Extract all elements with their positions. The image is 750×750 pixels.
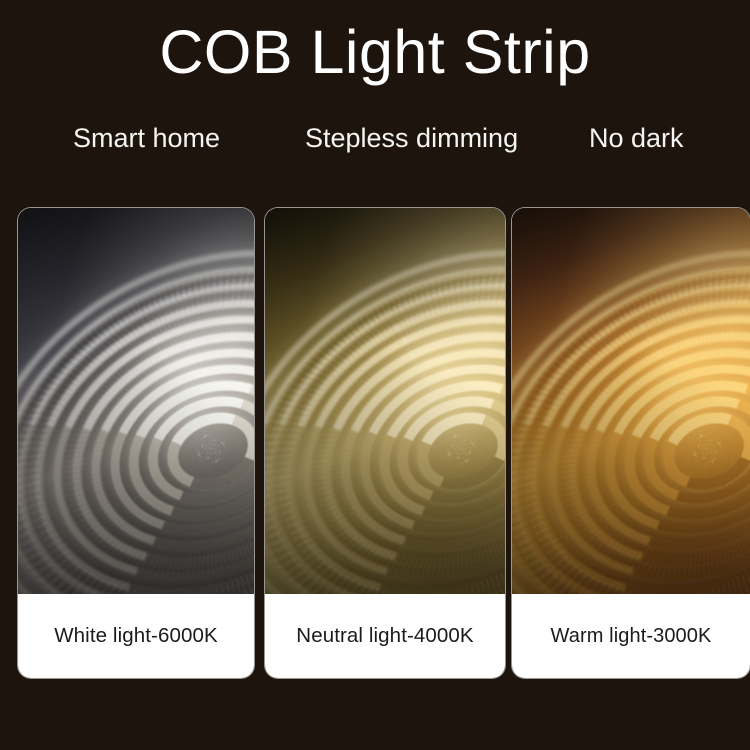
variant-card-neutral-4000k[interactable]: Neutral light-4000K (265, 208, 505, 678)
shadow-falloff-gradient (18, 208, 254, 594)
feature-no-dark: No dark (589, 118, 684, 158)
feature-list: Smart home Stepless dimming No dark (0, 118, 750, 160)
shadow-falloff-gradient (265, 208, 505, 594)
page-title: COB Light Strip (0, 16, 750, 88)
feature-smart-home: Smart home (73, 118, 220, 158)
variant-caption: Neutral light-4000K (265, 594, 505, 678)
variant-caption-text: Neutral light-4000K (296, 623, 473, 649)
variant-caption: Warm light-3000K (512, 594, 750, 678)
variant-caption-text: White light-6000K (54, 623, 218, 649)
variant-card-white-6000k[interactable]: White light-6000K (18, 208, 254, 678)
product-photo-warm (512, 208, 750, 594)
product-photo-white (18, 208, 254, 594)
product-variant-gallery: White light-6000K Neutral light-4000K (0, 208, 750, 678)
feature-stepless-dimming: Stepless dimming (305, 118, 518, 158)
product-banner: COB Light Strip Smart home Stepless dimm… (0, 0, 750, 750)
shadow-falloff-gradient (512, 208, 750, 594)
variant-card-warm-3000k[interactable]: Warm light-3000K (512, 208, 750, 678)
variant-caption-text: Warm light-3000K (551, 623, 712, 649)
variant-caption: White light-6000K (18, 594, 254, 678)
product-photo-neutral (265, 208, 505, 594)
